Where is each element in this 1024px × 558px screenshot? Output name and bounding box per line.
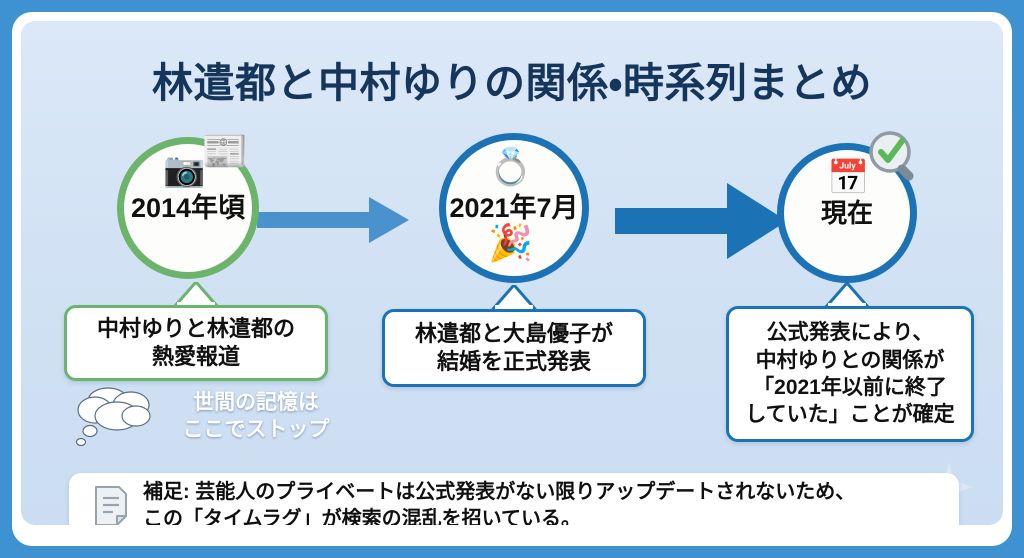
- timeline-node-2014-label: 2014年頃: [131, 195, 245, 222]
- memo-note-icon: [93, 485, 129, 525]
- callout-box-2014: 中村ゆりと林遣都の 熱愛報道: [64, 305, 328, 381]
- calendar-icon: 📅: [827, 161, 869, 195]
- footer-note-text: 補足: 芸能人のプライベートは公式発表がない限りアップデートされないため、 この…: [143, 479, 855, 525]
- callout-tail-2: [491, 285, 537, 311]
- thought-cloud-icon: [73, 383, 169, 455]
- callout-box-now-line-1: 公式発表により、: [745, 319, 954, 346]
- page-title: 林遣都と中村ゆりの関係・時系列まとめ: [21, 49, 1003, 109]
- callout-box-now: 公式発表により、 中村ゆりとの関係が 「2021年以前に終了 していた」ことが確…: [726, 306, 974, 442]
- callout-box-2021-07-line-1: 林遣都と大島優子が: [415, 320, 613, 348]
- callout-box-now-line-3: 「2021年以前に終了: [745, 374, 954, 401]
- newspaper-icon: 📰: [201, 133, 248, 171]
- footer-note: 補足: 芸能人のプライベートは公式発表がない限りアップデートされないため、 この…: [69, 473, 959, 525]
- party-popper-icon: 🎉: [488, 225, 533, 261]
- camera-icon: 📷: [163, 153, 205, 187]
- footer-note-line-1: 補足: 芸能人のプライベートは公式発表がない限りアップデートされないため、: [143, 479, 855, 506]
- thought-bubble-line-2: ここでストップ: [161, 416, 351, 443]
- thought-bubble-line-1: 世間の記憶は: [161, 389, 351, 416]
- callout-box-2021-07: 林遣都と大島優子が 結婚を正式発表: [382, 309, 646, 387]
- callout-box-2021-07-line-2: 結婚を正式発表: [415, 348, 613, 376]
- callout-box-now-line-4: していた」ことが確定: [745, 401, 954, 428]
- arrow-2: [615, 181, 795, 261]
- wedding-rings-icon: 💍: [488, 149, 533, 185]
- timeline-node-now-label: 現在: [821, 200, 873, 226]
- callout-box-now-line-2: 中村ゆりとの関係が: [745, 347, 954, 374]
- thought-bubble-text: 世間の記憶は ここでストップ: [161, 389, 351, 444]
- content-panel: 林遣都と中村ゆりの関係・時系列まとめ 2014年頃 📷 📰 中村ゆりと林遣都の …: [21, 21, 1003, 525]
- timeline-node-2021-07-label: 2021年7月: [449, 195, 578, 222]
- magnifier-check-icon: [866, 129, 924, 187]
- callout-box-2014-line-1: 中村ゆりと林遣都の: [97, 315, 295, 343]
- callout-box-2014-line-2: 熱愛報道: [97, 343, 295, 371]
- footer-note-line-2: この「タイムラグ」が検索の混乱を招いている。: [143, 506, 855, 525]
- arrow-1: [257, 191, 417, 249]
- infographic-canvas: 林遣都と中村ゆりの関係・時系列まとめ 2014年頃 📷 📰 中村ゆりと林遣都の …: [0, 0, 1024, 558]
